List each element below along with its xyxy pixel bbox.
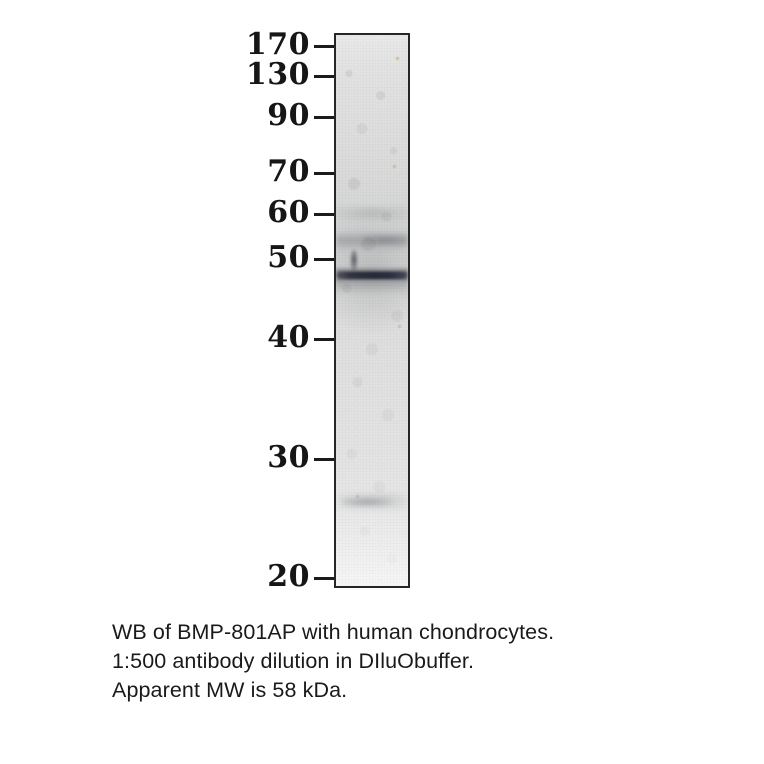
figure-caption: WB of BMP-801AP with human chondrocytes.…: [112, 618, 712, 705]
ladder-tick-170: [314, 45, 335, 48]
caption-line-3: Apparent MW is 58 kDa.: [112, 676, 712, 705]
ladder-label-50: 50: [267, 243, 310, 273]
membrane-grain: [336, 35, 408, 586]
ladder-label-20: 20: [267, 562, 310, 592]
ladder-label-130: 130: [246, 60, 310, 90]
ladder-label-40: 40: [267, 323, 310, 353]
western-blot-figure: 170 130 90 70 60 50 40 30 20: [0, 0, 764, 612]
ladder-label-30: 30: [267, 443, 310, 473]
ladder-label-170: 170: [246, 30, 310, 60]
blot-lane: [334, 33, 410, 588]
ladder-tick-70: [314, 172, 335, 175]
ladder-label-70: 70: [267, 157, 310, 187]
ladder-label-90: 90: [267, 101, 310, 131]
ladder-tick-30: [314, 458, 335, 461]
ladder-tick-20: [314, 577, 335, 580]
caption-line-1: WB of BMP-801AP with human chondrocytes.: [112, 618, 712, 647]
ladder-tick-90: [314, 116, 335, 119]
ladder-label-60: 60: [267, 198, 310, 228]
caption-line-2: 1:500 antibody dilution in DIluObuffer.: [112, 647, 712, 676]
ladder-tick-40: [314, 338, 335, 341]
ladder-tick-60: [314, 213, 335, 216]
ladder-tick-50: [314, 258, 335, 261]
ladder-tick-130: [314, 75, 335, 78]
